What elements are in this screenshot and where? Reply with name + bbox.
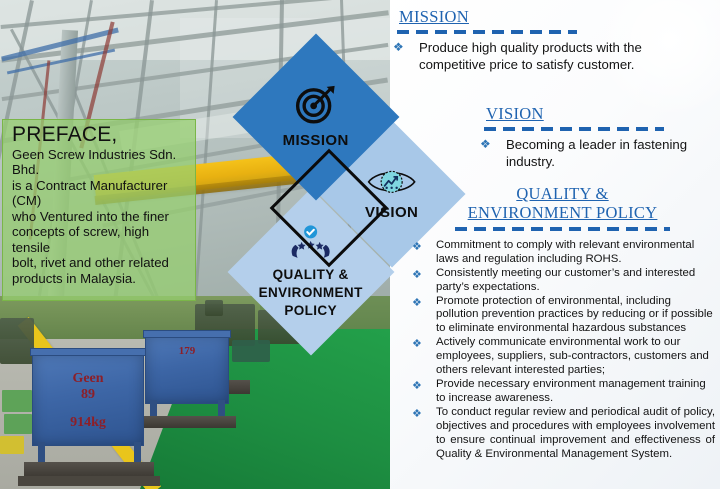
blue-container-2: 179	[145, 334, 229, 404]
policy-bullet-2: Consistently meeting our customer’s and …	[436, 267, 715, 295]
bullet-diamond-icon: ❖	[393, 39, 419, 55]
list-item: ❖ Consistently meeting our customer’s an…	[412, 267, 715, 295]
policy-heading-line-1: QUALITY &	[410, 185, 715, 204]
policy-bullet-1: Commitment to comply with relevant envir…	[436, 239, 715, 267]
list-item: ❖ Commitment to comply with relevant env…	[412, 239, 715, 267]
policy-bullet-list: ❖ Commitment to comply with relevant env…	[410, 239, 715, 462]
policy-bullet-6: To conduct regular review and periodical…	[436, 406, 715, 462]
preface-line-3: is a Contract Manufacturer (CM)	[12, 178, 189, 209]
bullet-diamond-icon: ❖	[412, 267, 436, 282]
preface-line-4: who Ventured into the finer	[12, 209, 189, 224]
slide-canvas: 179 Geen 89 914kg PREFACE, Geen Screw In…	[0, 0, 720, 489]
preface-line-5: concepts of screw, high tensile	[12, 224, 189, 255]
policy-bullet-4: Actively communicate environmental work …	[436, 336, 715, 378]
bullet-diamond-icon: ❖	[412, 295, 436, 310]
section-mission: MISSION ❖ Produce high quality products …	[393, 8, 693, 74]
list-item: ❖ Produce high quality products with the…	[393, 39, 693, 73]
preface-line-2: Bhd.	[12, 162, 189, 177]
bullet-diamond-icon: ❖	[480, 136, 506, 152]
mission-dashed-rule	[397, 30, 577, 34]
policy-bullet-3: Promote protection of environmental, inc…	[436, 295, 715, 337]
diamond-mission-label: MISSION	[283, 132, 349, 149]
preface-title: PREFACE,	[12, 124, 189, 146]
diamond-quality-label-2: ENVIRONMENT	[259, 285, 363, 300]
section-quality-environment-policy: QUALITY & ENVIRONMENT POLICY ❖ Commitmen…	[410, 185, 715, 461]
list-item: ❖ Provide necessary environment manageme…	[412, 378, 715, 406]
section-vision: VISION ❖ Becoming a leader in fastening …	[450, 105, 720, 171]
vision-bullet-1: Becoming a leader in fastening industry.	[506, 136, 720, 170]
policy-dashed-rule	[455, 227, 670, 231]
mission-bullet-list: ❖ Produce high quality products with the…	[393, 39, 693, 73]
policy-heading-line-2: ENVIRONMENT POLICY	[410, 204, 715, 223]
diamond-quality-label-1: QUALITY &	[273, 267, 349, 282]
bin2-label: 179	[146, 345, 228, 357]
bullet-diamond-icon: ❖	[412, 336, 436, 351]
target-icon	[257, 85, 375, 130]
bin1-label-number: 89	[33, 387, 143, 403]
list-item: ❖ Actively communicate environmental wor…	[412, 336, 715, 378]
policy-bullet-5: Provide necessary environment management…	[436, 378, 715, 406]
bin1-label-weight: 914kg	[33, 415, 143, 431]
list-item: ❖ Promote protection of environmental, i…	[412, 295, 715, 337]
list-item: ❖ Becoming a leader in fastening industr…	[450, 136, 720, 170]
bin1-label-name: Geen	[33, 371, 143, 387]
blue-container-1: Geen 89 914kg	[32, 352, 144, 446]
preface-line-6: bolt, rivet and other related	[12, 255, 189, 270]
vision-heading: VISION	[486, 105, 720, 124]
vision-bullet-list: ❖ Becoming a leader in fastening industr…	[450, 136, 720, 170]
vision-dashed-rule	[484, 127, 664, 131]
bullet-diamond-icon: ❖	[412, 378, 436, 393]
list-item: ❖ To conduct regular review and periodic…	[412, 406, 715, 462]
mission-heading: MISSION	[399, 8, 693, 27]
mission-bullet-1: Produce high quality products with the c…	[419, 39, 693, 73]
diamond-quality-label-3: POLICY	[285, 303, 338, 318]
bullet-diamond-icon: ❖	[412, 406, 436, 421]
bullet-diamond-icon: ❖	[412, 239, 436, 254]
preface-textbox: PREFACE, Geen Screw Industries Sdn. Bhd.…	[2, 119, 196, 301]
preface-line-7: products in Malaysia.	[12, 271, 189, 286]
preface-line-1: Geen Screw Industries Sdn.	[12, 147, 189, 162]
